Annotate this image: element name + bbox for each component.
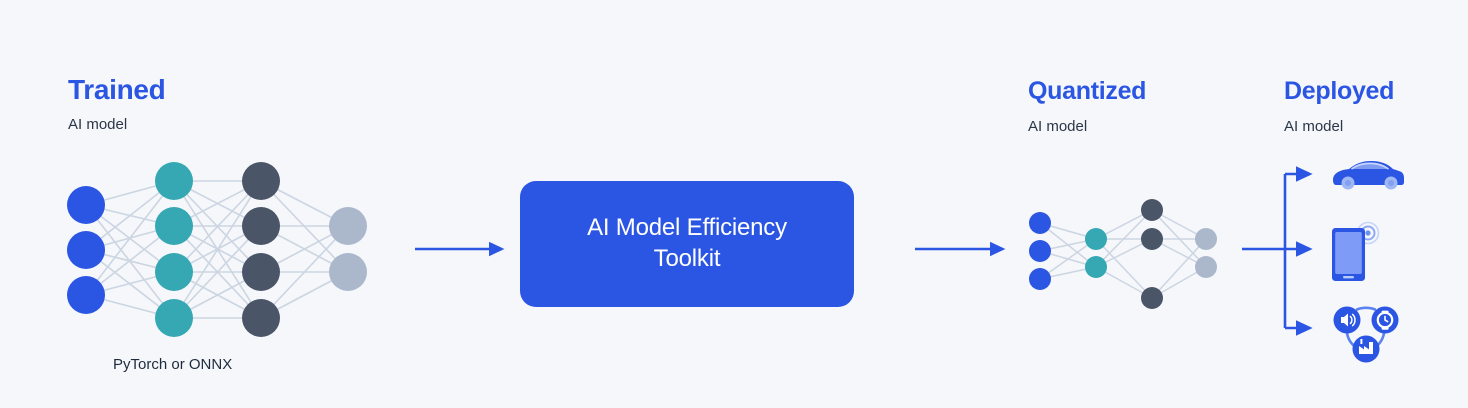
smart-factory-icon: [1353, 336, 1380, 363]
node-input: [1029, 240, 1051, 262]
node-output: [329, 253, 367, 291]
node-hidden: [1141, 287, 1163, 309]
node-output: [1195, 228, 1217, 250]
node-output: [329, 207, 367, 245]
node-hidden: [1085, 256, 1107, 278]
node-input: [1029, 212, 1051, 234]
node-input: [67, 276, 105, 314]
node-input: [67, 231, 105, 269]
node-hidden: [1141, 199, 1163, 221]
arrow-quantized-to-devices: [1242, 174, 1310, 328]
node-hidden: [1085, 228, 1107, 250]
quantized-network: [1029, 199, 1217, 309]
node-hidden: [242, 299, 280, 337]
node-hidden: [155, 253, 193, 291]
node-hidden: [155, 207, 193, 245]
node-hidden: [242, 253, 280, 291]
node-hidden: [242, 162, 280, 200]
node-hidden: [242, 207, 280, 245]
node-hidden: [1141, 228, 1163, 250]
diagram-canvas: Trained AI model Quantized AI model Depl…: [0, 0, 1468, 408]
diagram-vectors: [0, 0, 1468, 408]
node-hidden: [155, 162, 193, 200]
smartwatch-icon: [1372, 307, 1399, 334]
car-icon: [1333, 161, 1404, 190]
trained-network-edges: [86, 181, 348, 318]
node-output: [1195, 256, 1217, 278]
smart-speaker-icon: [1334, 307, 1361, 334]
node-hidden: [155, 299, 193, 337]
smartphone-icon: [1332, 223, 1379, 282]
node-input: [67, 186, 105, 224]
quantized-network-edges: [1040, 210, 1206, 298]
iot-devices-icon: [1334, 307, 1399, 363]
node-input: [1029, 268, 1051, 290]
trained-network: [67, 162, 367, 337]
